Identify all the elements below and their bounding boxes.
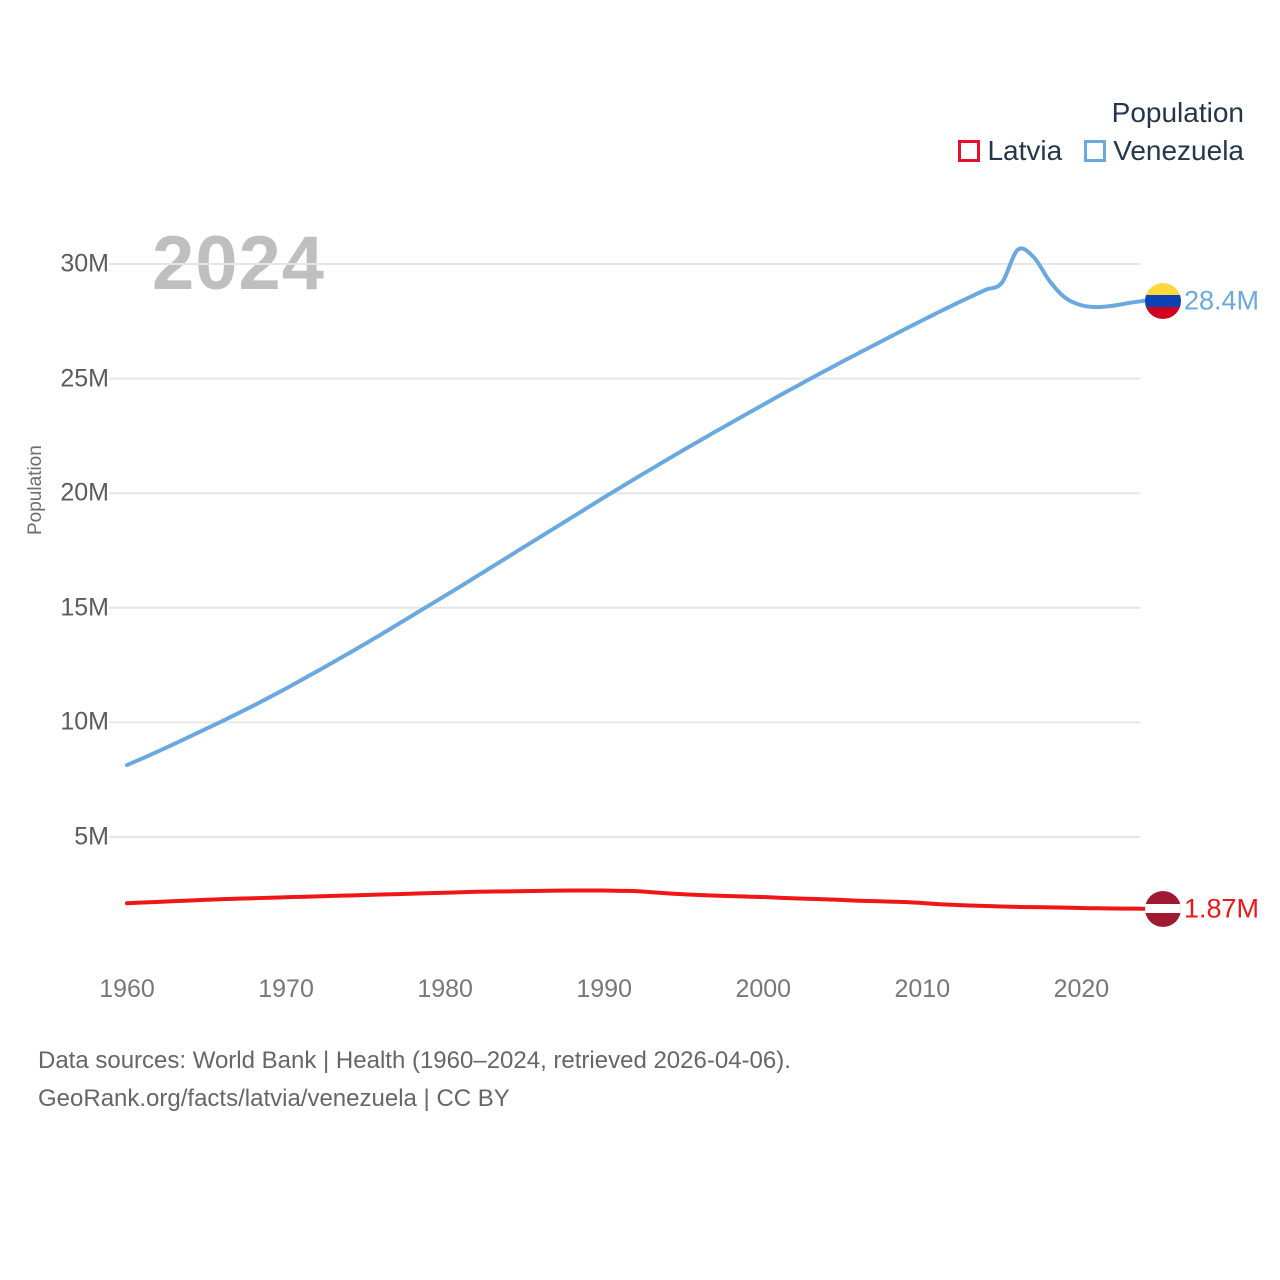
footer-line-attribution[interactable]: GeoRank.org/facts/latvia/venezuela | CC … bbox=[38, 1080, 791, 1118]
chart-footer: Data sources: World Bank | Health (1960–… bbox=[38, 1042, 791, 1118]
footer-line-sources: Data sources: World Bank | Health (1960–… bbox=[38, 1042, 791, 1080]
series-line-venezuela bbox=[127, 248, 1145, 765]
flag-stripe-blue bbox=[1145, 295, 1181, 307]
flag-stripe-red bbox=[1145, 307, 1181, 319]
flag-band-white bbox=[1145, 904, 1181, 913]
population-line-chart: Population Latvia Venezuela 2024 Populat… bbox=[0, 0, 1280, 1280]
venezuela-flag-icon bbox=[1145, 283, 1181, 319]
end-value-latvia: 1.87M bbox=[1184, 895, 1259, 922]
latvia-flag-icon bbox=[1145, 891, 1181, 927]
flag-stripe-yellow bbox=[1145, 283, 1181, 295]
series-line-latvia bbox=[127, 890, 1145, 908]
end-value-venezuela: 28.4M bbox=[1184, 287, 1259, 314]
